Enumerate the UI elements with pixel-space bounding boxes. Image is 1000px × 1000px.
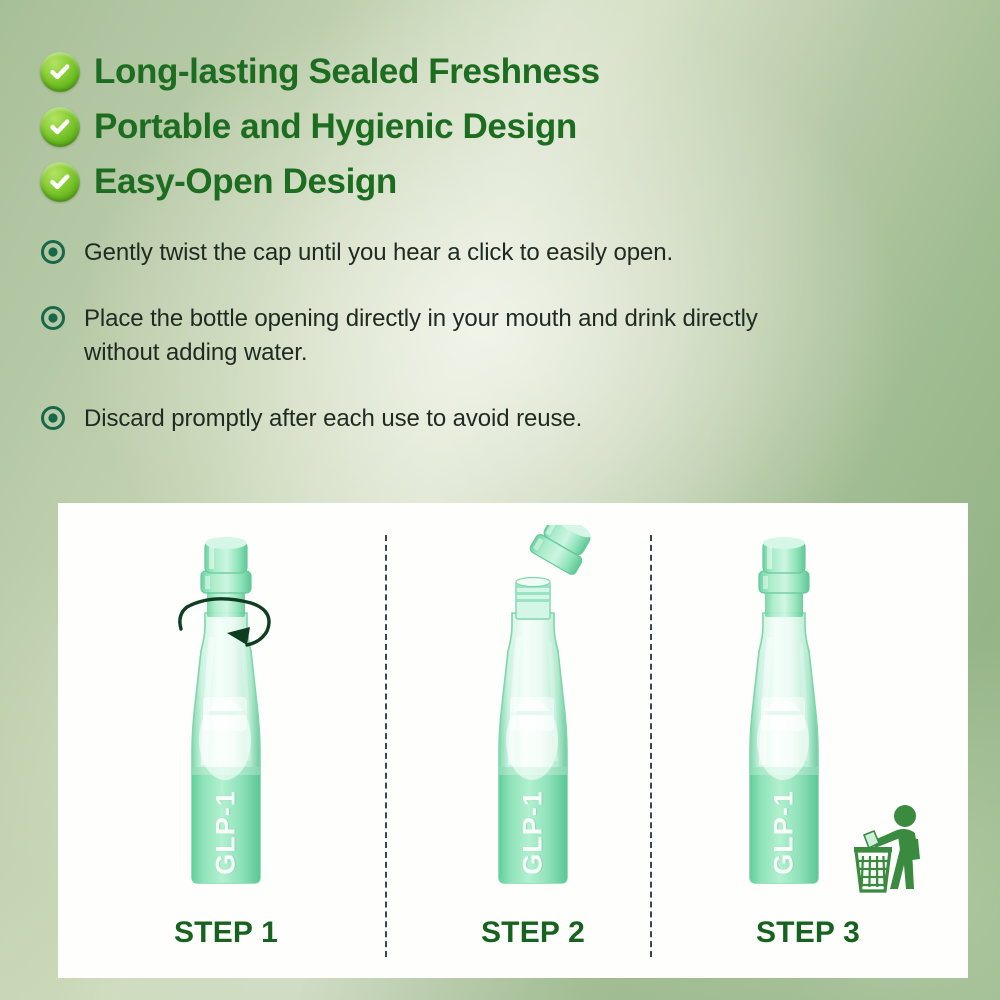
usage-steps-panel: GLP-1 STEP 1: [58, 503, 968, 978]
instruction-item: Place the bottle opening directly in you…: [40, 302, 830, 370]
check-circle-icon: [40, 162, 80, 202]
instruction-item: Gently twist the cap until you hear a cl…: [40, 236, 830, 270]
step-column-3: GLP-1: [658, 503, 958, 978]
step-1-illustration: GLP-1: [76, 525, 376, 900]
dispose-in-bin-icon: [850, 803, 936, 893]
feature-headline-list: Long-lasting Sealed Freshness Portable a…: [40, 44, 680, 209]
check-circle-icon: [40, 52, 80, 92]
step-3-illustration: GLP-1: [658, 525, 958, 900]
feature-headline-item: Easy-Open Design: [40, 154, 680, 209]
feature-headline-label: Easy-Open Design: [94, 164, 397, 199]
step-label-1: STEP 1: [76, 916, 376, 950]
step-column-1: GLP-1 STEP 1: [76, 503, 376, 978]
bottle-label-text: GLP-1: [518, 790, 549, 875]
step-label-2: STEP 2: [383, 916, 683, 950]
step-2-illustration: GLP-1: [383, 525, 683, 900]
rotation-arrow-icon: [151, 585, 301, 665]
target-bullet-icon: [40, 305, 66, 331]
instruction-label: Discard promptly after each use to avoid…: [84, 402, 582, 436]
bottle-label-text: GLP-1: [211, 790, 242, 875]
check-circle-icon: [40, 107, 80, 147]
feature-headline-item: Long-lasting Sealed Freshness: [40, 44, 680, 99]
feature-headline-item: Portable and Hygienic Design: [40, 99, 680, 154]
step-label-3: STEP 3: [658, 916, 958, 950]
instruction-label: Gently twist the cap until you hear a cl…: [84, 236, 673, 270]
step-column-2: GLP-1 STEP 2: [383, 503, 683, 978]
instruction-label: Place the bottle opening directly in you…: [84, 302, 830, 370]
target-bullet-icon: [40, 239, 66, 265]
target-bullet-icon: [40, 405, 66, 431]
instruction-item: Discard promptly after each use to avoid…: [40, 402, 830, 436]
instruction-list: Gently twist the cap until you hear a cl…: [40, 236, 830, 468]
feature-headline-label: Portable and Hygienic Design: [94, 109, 577, 144]
bottle-label-text: GLP-1: [769, 790, 800, 875]
feature-headline-label: Long-lasting Sealed Freshness: [94, 54, 600, 89]
